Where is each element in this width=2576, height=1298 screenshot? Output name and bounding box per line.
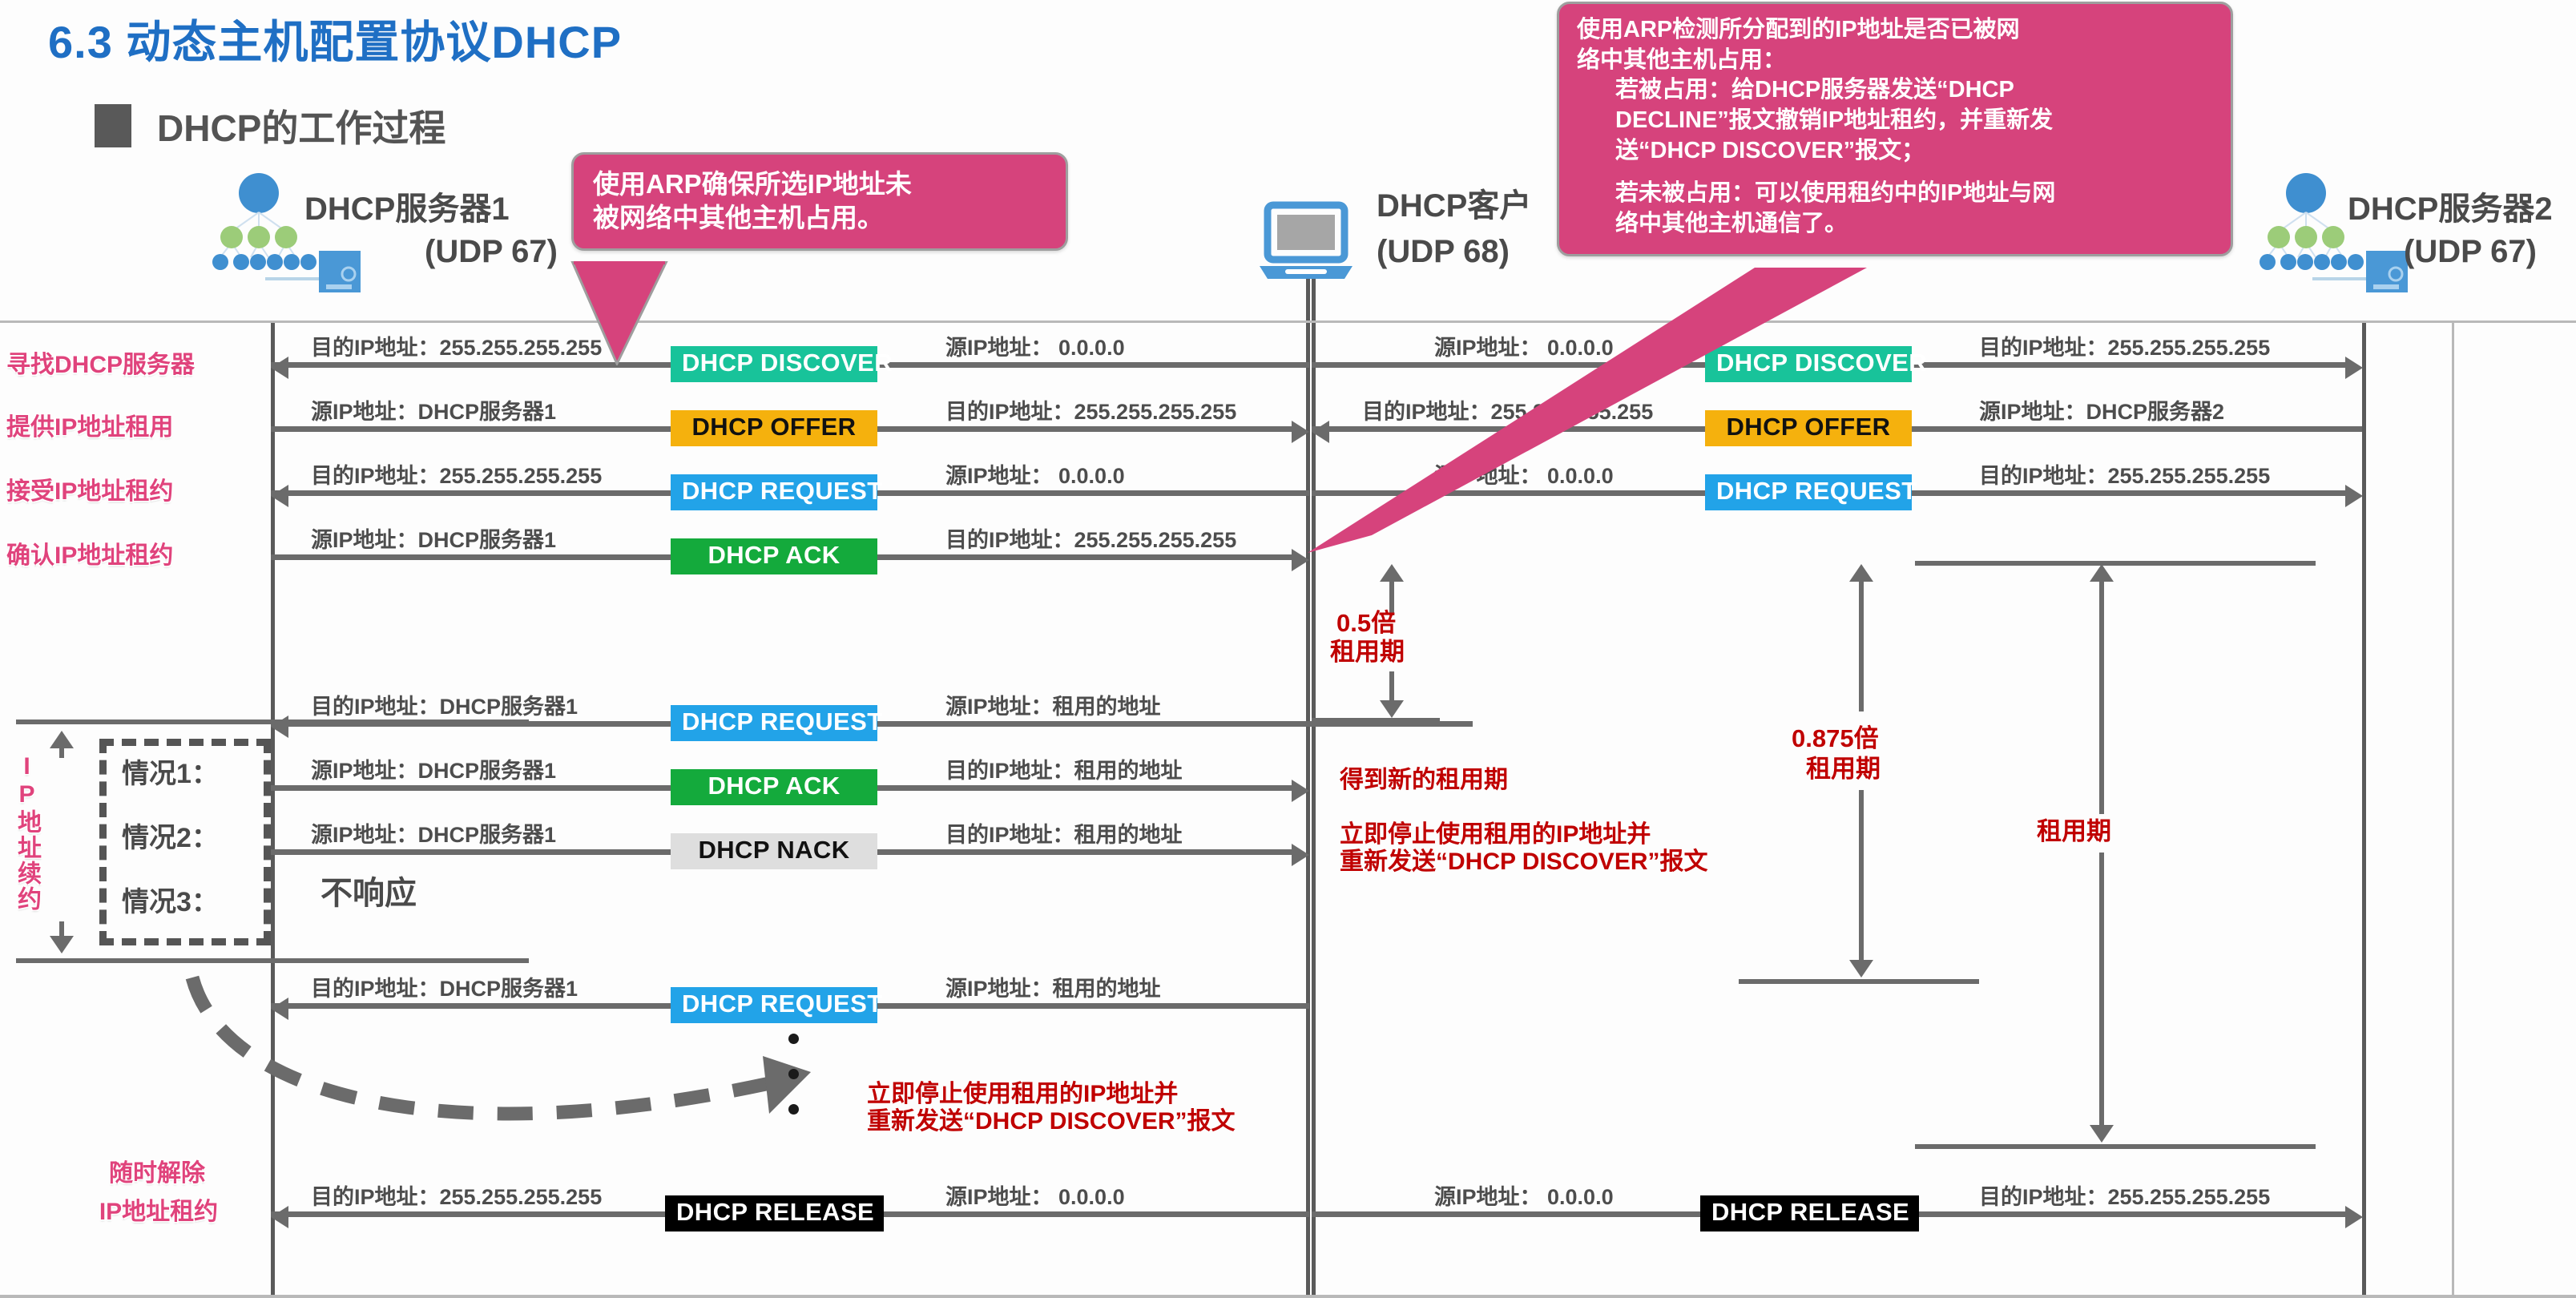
address-caption-right: 目的IP地址：255.255.255.255: [1979, 458, 2270, 490]
arrow-head-right: [1292, 780, 1309, 802]
address-caption-left: 源IP地址：DHCP服务器1: [311, 394, 556, 425]
lifeline-server2: [2362, 320, 2366, 1298]
situation-item-1: 情况1：: [122, 752, 219, 791]
timer-label-half-lease-l2: 租用期: [1330, 639, 1405, 665]
panel-top-border: [0, 320, 2576, 323]
message-tag-ack: DHCP ACK: [671, 538, 877, 574]
timer-label-lease: 租用期: [2037, 819, 2111, 845]
phase-label-offer-lease: 提供IP地址租用: [6, 407, 173, 442]
timer-start-cap: [1915, 561, 2316, 566]
address-caption-left: 源IP地址：DHCP服务器1: [311, 753, 556, 784]
callout-small-tail-icon: [570, 261, 731, 369]
callout-big-intro2: 络中其他主机占用：: [1577, 46, 2216, 76]
situation-item-2: 情况2：: [122, 816, 219, 855]
no-response-label: 不响应: [320, 867, 417, 913]
renew-arrow-down-icon: [50, 936, 74, 953]
address-caption-left: 源IP地址： 0.0.0.0: [1434, 1179, 1614, 1211]
timer-line: [2099, 853, 2104, 1125]
address-caption-left: 目的IP地址：255.255.255.255: [311, 458, 602, 490]
message-tag-release: DHCP RELEASE: [1700, 1195, 1919, 1231]
address-caption-left: 目的IP地址：255.255.255.255: [311, 1179, 602, 1211]
address-caption-right: 目的IP地址：255.255.255.255: [945, 522, 1236, 554]
phase-label-accept-lease: 接受IP地址租约: [6, 471, 173, 506]
timer-label-0875-l2: 租用期: [1806, 756, 1881, 782]
callout-big-case-taken3: 送“DHCP DISCOVER”报文；: [1577, 136, 2216, 167]
address-caption-left: 目的IP地址：DHCP服务器1: [311, 689, 578, 720]
renew-span-line: [59, 921, 64, 937]
callout-big-case-taken2: DECLINE”报文撤销IP地址租约，并重新发: [1577, 106, 2216, 136]
timer-arrow-up-icon: [1849, 564, 1873, 582]
callout-small-line2: 被网络中其他主机占用。: [593, 201, 1051, 235]
timer-label-0875-l1: 0.875倍: [1792, 726, 1879, 752]
page-title: 6.3 动态主机配置协议DHCP: [48, 6, 622, 71]
phase-label-release-l2: IP地址租约: [71, 1199, 247, 1226]
bullet-square-icon: [95, 104, 131, 147]
phase-label-renew-lease: IP地址续约: [14, 753, 38, 921]
ellipsis-dot: [788, 1104, 799, 1115]
renew-span-bottom-rule: [16, 958, 529, 963]
panel-right-border: [2452, 320, 2454, 1298]
arrow-head-left: [271, 485, 288, 507]
address-caption-right: 源IP地址： 0.0.0.0: [945, 330, 1125, 361]
panel-bottom-border: [0, 1295, 2576, 1298]
arrow-head-right: [1292, 844, 1309, 866]
renew-span-top-rule: [16, 720, 529, 724]
message-tag-request: DHCP REQUEST: [671, 705, 877, 741]
address-caption-right: 源IP地址：租用的地址: [945, 971, 1161, 1002]
red-note-stop-use2-line1: 立即停止使用租用的IP地址并: [867, 1082, 1178, 1107]
message-tag-offer: DHCP OFFER: [671, 410, 877, 446]
callout-big-tail-icon: [1306, 264, 1883, 565]
message-tag-ack: DHCP ACK: [671, 769, 877, 805]
timer-arrow-up-icon: [1380, 564, 1404, 582]
server2-port: (UDP 67): [2404, 234, 2537, 270]
arrow-head-right: [2345, 357, 2363, 379]
server1-port: (UDP 67): [425, 234, 558, 270]
message-tag-release: DHCP RELEASE: [665, 1195, 884, 1231]
server2-label: DHCP服务器2: [2348, 183, 2553, 229]
callout-small-line1: 使用ARP确保所选IP地址未: [593, 167, 1051, 201]
timer-end-cap: [1739, 979, 1979, 984]
renew-span-line: [59, 745, 64, 758]
address-caption-left: 源IP地址：DHCP服务器1: [311, 817, 556, 849]
section-subtitle: DHCP的工作过程: [157, 99, 445, 152]
address-caption-right: 目的IP地址：租用的地址: [945, 753, 1183, 784]
timer-end-cap: [1312, 718, 1440, 723]
message-tag-nack: DHCP NACK: [671, 833, 877, 869]
red-note-stop-use-line1: 立即停止使用租用的IP地址并: [1340, 822, 1651, 848]
callout-big-case-free2: 络中其他主机通信了。: [1577, 209, 2216, 240]
address-caption-right: 源IP地址：DHCP服务器2: [1979, 394, 2224, 425]
arrow-head-left: [271, 357, 288, 379]
phase-label-find-server: 寻找DHCP服务器: [6, 345, 195, 380]
ellipsis-dot: [788, 1034, 799, 1044]
address-caption-right: 目的IP地址：租用的地址: [945, 817, 1183, 849]
address-caption-left: 源IP地址：DHCP服务器1: [311, 522, 556, 554]
address-caption-left: 目的IP地址：255.255.255.255: [311, 330, 602, 361]
timer-arrow-down-icon: [1380, 700, 1404, 718]
timer-label-half-lease-l1: 0.5倍: [1336, 611, 1396, 636]
callout-arp-ensure: 使用ARP确保所选IP地址未 被网络中其他主机占用。: [571, 152, 1068, 251]
timer-line: [1859, 790, 1864, 960]
address-caption-right: 目的IP地址：255.255.255.255: [1979, 330, 2270, 361]
red-note-stop-use-line2: 重新发送“DHCP DISCOVER”报文: [1340, 849, 1708, 875]
client-label: DHCP客户: [1377, 179, 1531, 226]
callout-big-case-taken1: 若被占用：给DHCP服务器发送“DHCP: [1577, 75, 2216, 106]
address-caption-right: 目的IP地址：255.255.255.255: [1979, 1179, 2270, 1211]
timer-line: [1389, 671, 1394, 700]
arrow-head-left: [271, 1206, 288, 1228]
server1-label: DHCP服务器1: [304, 183, 510, 229]
address-caption-right: 源IP地址：租用的地址: [945, 689, 1161, 720]
timer-end-cap: [1915, 1144, 2316, 1149]
red-note-new-lease: 得到新的租用期: [1340, 768, 1508, 793]
message-tag-request: DHCP REQUEST: [671, 474, 877, 510]
address-caption-right: 目的IP地址：255.255.255.255: [945, 394, 1236, 425]
timer-arrow-down-icon: [2090, 1125, 2114, 1143]
timer-arrow-down-icon: [1849, 960, 1873, 978]
arrow-head-right: [2345, 1206, 2363, 1228]
arrow-head-right: [2345, 485, 2363, 507]
callout-arp-detect: 使用ARP检测所分配到的IP地址是否已被网 络中其他主机占用： 若被占用：给DH…: [1557, 2, 2233, 256]
address-caption-right: 源IP地址： 0.0.0.0: [945, 1179, 1125, 1211]
dhcp-process-diagram: 6.3 动态主机配置协议DHCP DHCP的工作过程: [0, 0, 2576, 1298]
callout-big-case-free1: 若未被占用：可以使用租约中的IP地址与网: [1577, 179, 2216, 209]
timer-line: [2099, 580, 2104, 814]
callout-big-spacer: [1577, 166, 2216, 179]
retry-curved-dashed-arrow-icon: [160, 969, 881, 1174]
phase-label-confirm-lease: 确认IP地址租约: [6, 535, 173, 570]
ellipsis-dot: [788, 1069, 799, 1079]
timer-arrow-up-icon: [2090, 564, 2114, 582]
address-caption-right: 源IP地址： 0.0.0.0: [945, 458, 1125, 490]
callout-big-intro1: 使用ARP检测所分配到的IP地址是否已被网: [1577, 15, 2216, 46]
red-note-stop-use2-line2: 重新发送“DHCP DISCOVER”报文: [867, 1109, 1236, 1135]
situation-item-3: 情况3：: [122, 880, 219, 919]
timer-line: [1859, 580, 1864, 711]
